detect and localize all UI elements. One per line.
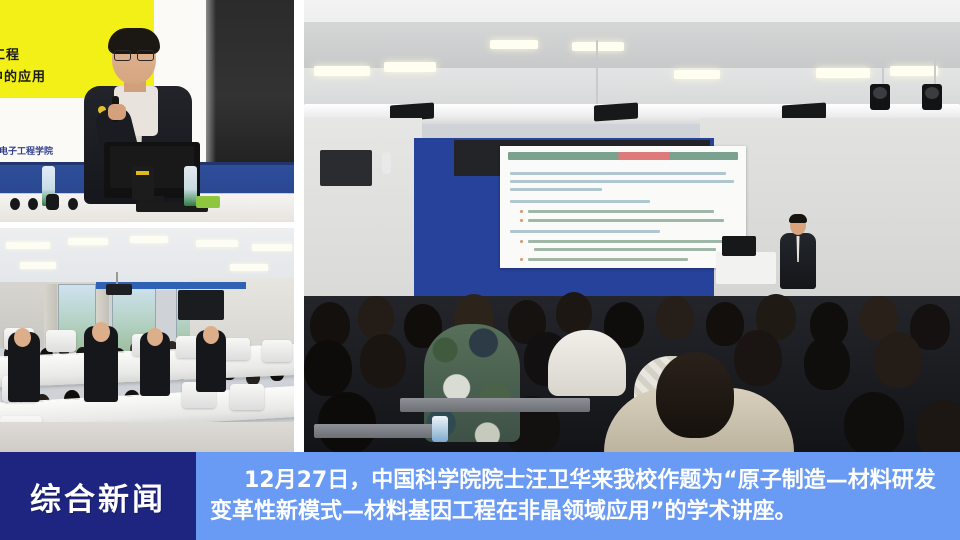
foreground-person-head [656,352,734,438]
ceiling-light [890,66,938,76]
ceiling-light [314,66,370,76]
ceiling-light [816,68,870,78]
hall-ceiling [304,0,960,118]
ceiling-light [20,262,56,269]
podium-monitor [722,236,756,256]
desk-microphones [8,190,94,210]
ceiling-light [230,264,268,271]
travel-mug [432,416,448,442]
podium-computer [132,166,154,200]
audience-face [147,328,163,346]
caption-bar: 综合新闻 12月27日，中国科学院院士汪卫华来我校作题为“原子制造—材料研发 变… [0,452,960,540]
audience-face [92,322,110,342]
news-collage-page: 工程 中的应用 与电子工程学院 [0,0,960,540]
photo-audience-hall[interactable] [0,228,294,452]
ceiling-speaker [594,102,638,121]
speaker-glasses [114,50,154,59]
stage-podium [716,252,776,284]
seat-back [46,330,76,352]
caption-line-2: 变革性新模式—材料基因工程在非晶领域应用”的学术讲座。 [210,496,950,527]
ceiling-light [196,240,238,247]
caption-text-block: 12月27日，中国科学院院士汪卫华来我校作题为“原子制造—材料研发 变革性新模式… [196,452,960,540]
slide-text-line-2: 中的应用 [0,66,46,85]
seat-back [230,384,264,410]
green-object [196,196,220,208]
audience-face [14,328,31,347]
ceiling-light [252,244,292,251]
lecturer-body [780,233,816,289]
surveillance-camera [382,152,391,174]
audience-desk [314,424,434,438]
seat-back [262,340,292,362]
audience-white-coat [548,330,626,396]
ceiling-projector [106,284,132,295]
mic-boom-rod [596,40,598,106]
presentation-slide [500,146,746,268]
slide-title-line [508,152,738,160]
ceiling-light [68,238,108,245]
lecturer-hair [789,214,807,223]
ceiling-light [6,242,50,249]
speaker-hand [108,104,126,120]
slide-text-line-1: 工程 [0,44,20,63]
ceiling-light [572,42,624,51]
category-badge-label: 综合新闻 [30,474,166,519]
photo-lecture-wide[interactable] [304,0,960,452]
lecturer-figure [780,216,816,288]
wall-monitor [320,150,372,186]
audience-face [203,326,219,344]
ceiling-light [490,40,538,49]
ceiling-light [130,236,168,243]
wall-dark-panel [206,0,294,176]
audience-desk [400,398,590,412]
wall-display-screen [178,290,224,320]
slide-text-line-3: 与电子工程学院 [0,144,53,157]
hall-left-wall [304,118,422,308]
category-badge[interactable]: 综合新闻 [0,452,196,540]
caption-line-1: 12月27日，中国科学院院士汪卫华来我校作题为“原子制造—材料研发 [210,465,950,496]
ceiling-light [384,62,436,72]
photo-speaker-podium[interactable]: 工程 中的应用 与电子工程学院 [0,0,294,222]
hall-floor [0,422,294,452]
stage-light [870,84,890,110]
stage-light [922,84,942,110]
photo-collage: 工程 中的应用 与电子工程学院 [0,0,960,452]
ceiling-light [674,70,720,79]
